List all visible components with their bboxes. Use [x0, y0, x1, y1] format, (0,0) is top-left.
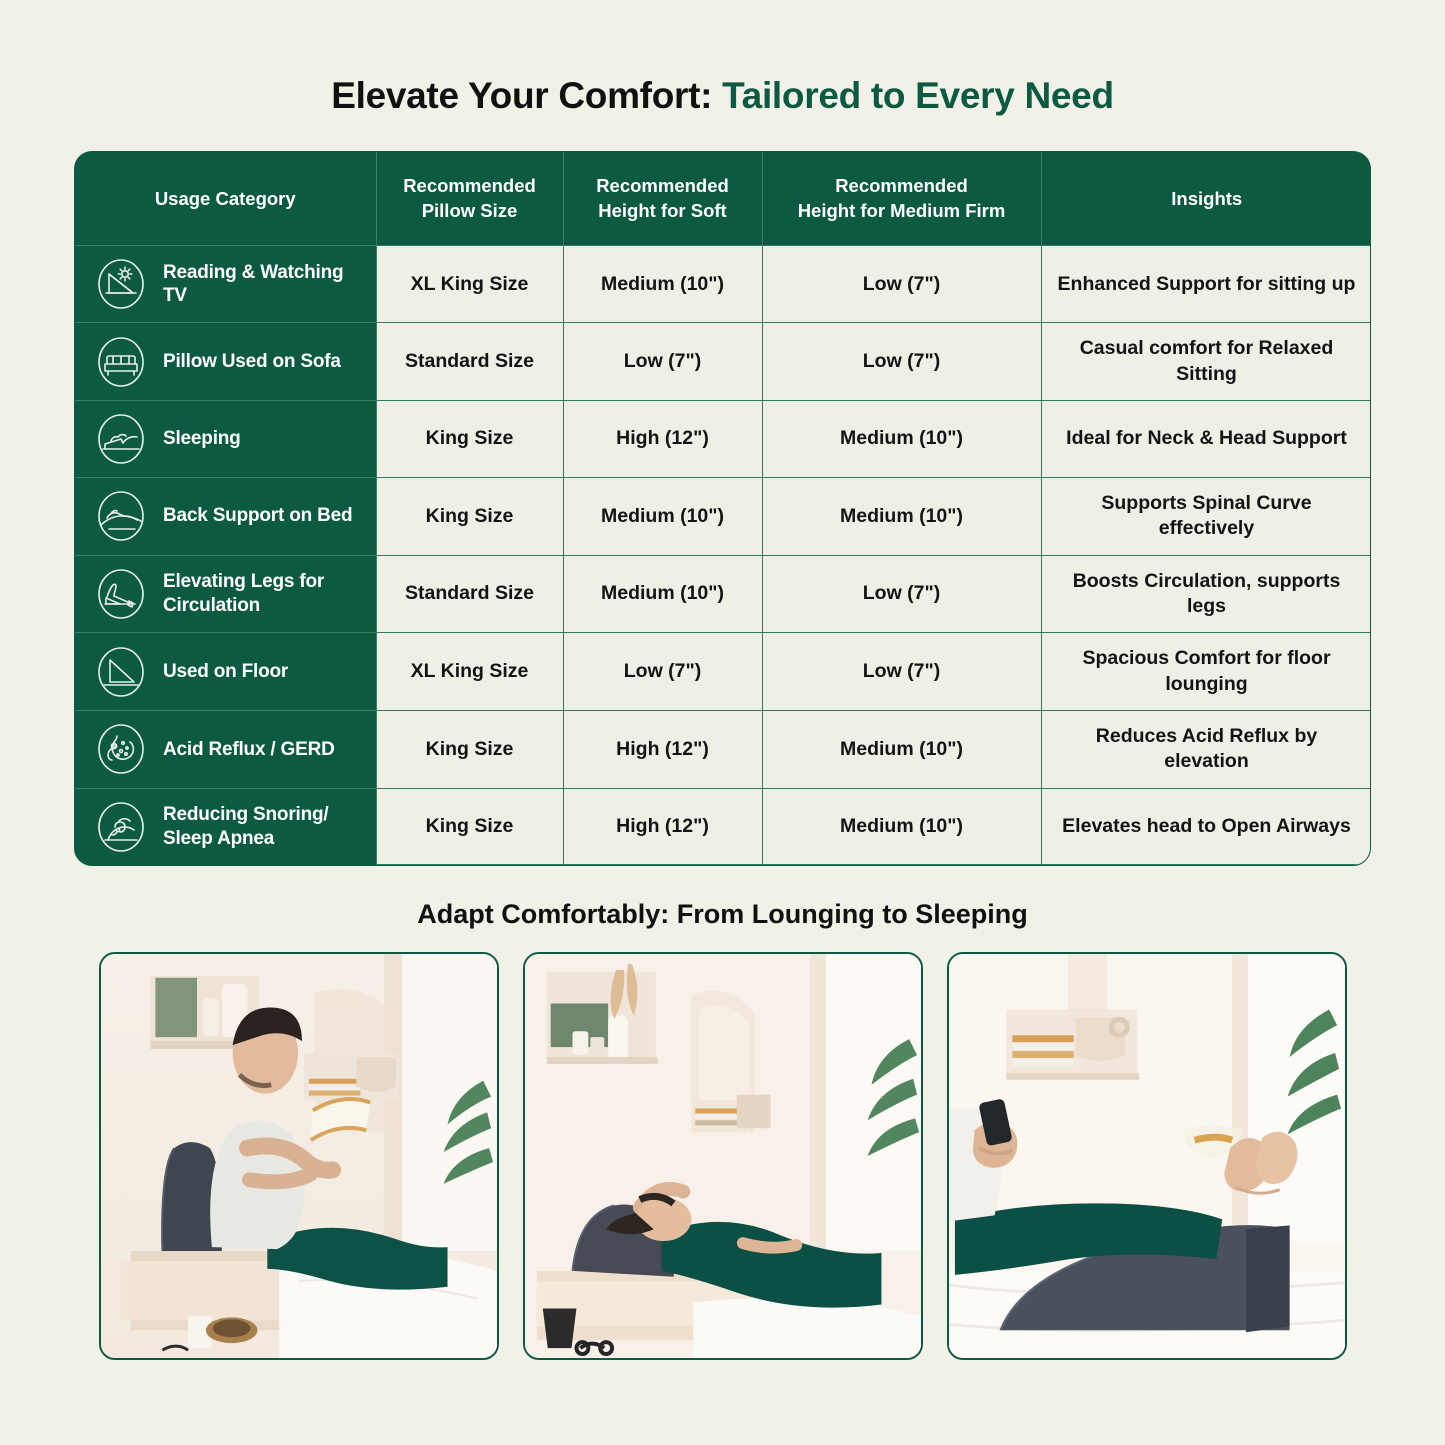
- height-medium-firm-cell: Medium (10"): [762, 400, 1041, 477]
- insight-cell: Enhanced Support for sitting up: [1041, 246, 1371, 323]
- table-row: Pillow Used on Sofa Standard Size Low (7…: [75, 323, 1371, 401]
- pillow-size-cell: Standard Size: [376, 555, 563, 633]
- insight-cell: Spacious Comfort for floor lounging: [1041, 633, 1371, 711]
- height-medium-firm-cell: Medium (10"): [762, 477, 1041, 555]
- usage-category-label: Reading & Watching TV: [163, 261, 364, 308]
- pillow-size-cell: XL King Size: [376, 246, 563, 323]
- pillow-size-cell: Standard Size: [376, 323, 563, 401]
- photo-woman-reclining-on-wedge-pillow: [523, 952, 923, 1360]
- sofa-icon: [93, 334, 149, 390]
- height-soft-cell: Low (7"): [563, 633, 762, 711]
- column-header-height-medium-firm: Recommended Height for Medium Firm: [762, 152, 1041, 245]
- height-soft-cell: Low (7"): [563, 323, 762, 401]
- pillow-size-cell: King Size: [376, 477, 563, 555]
- table-header-row: Usage Category Recommended Pillow Size R…: [75, 152, 1371, 245]
- height-soft-cell: Medium (10"): [563, 555, 762, 633]
- height-soft-cell: High (12"): [563, 788, 762, 865]
- height-soft-cell: High (12"): [563, 400, 762, 477]
- insight-cell: Reduces Acid Reflux by elevation: [1041, 710, 1371, 788]
- wedge-on-floor-icon: [93, 644, 149, 700]
- usage-category-cell: Used on Floor: [75, 633, 376, 711]
- usage-category-cell: Back Support on Bed: [75, 477, 376, 555]
- pillow-size-cell: King Size: [376, 788, 563, 865]
- height-soft-cell: Medium (10"): [563, 477, 762, 555]
- gallery-heading: Adapt Comfortably: From Lounging to Slee…: [0, 899, 1445, 930]
- table-row: Used on Floor XL King Size Low (7") Low …: [75, 633, 1371, 711]
- insight-cell: Elevates head to Open Airways: [1041, 788, 1371, 865]
- height-medium-firm-cell: Low (7"): [762, 246, 1041, 323]
- table-row: Back Support on Bed King Size Medium (10…: [75, 477, 1371, 555]
- sleeping-person-icon: [93, 411, 149, 467]
- insight-cell: Supports Spinal Curve effectively: [1041, 477, 1371, 555]
- height-soft-cell: Medium (10"): [563, 246, 762, 323]
- height-medium-firm-cell: Low (7"): [762, 633, 1041, 711]
- stomach-acid-reflux-icon: [93, 721, 149, 777]
- usage-category-cell: Acid Reflux / GERD: [75, 710, 376, 788]
- usage-category-label: Pillow Used on Sofa: [163, 350, 341, 374]
- table-row: Elevating Legs for Circulation Standard …: [75, 555, 1371, 633]
- height-medium-firm-cell: Medium (10"): [762, 710, 1041, 788]
- usage-category-label: Used on Floor: [163, 660, 288, 684]
- usage-category-label: Sleeping: [163, 427, 241, 451]
- table-row: Sleeping King Size High (12") Medium (10…: [75, 400, 1371, 477]
- photo-man-reading-with-wedge-pillow: [99, 952, 499, 1360]
- back-support-icon: [93, 488, 149, 544]
- usage-category-label: Acid Reflux / GERD: [163, 738, 335, 762]
- height-soft-cell: High (12"): [563, 710, 762, 788]
- usage-category-label: Back Support on Bed: [163, 504, 352, 528]
- photo-gallery: [0, 952, 1445, 1360]
- column-header-pillow-size: Recommended Pillow Size: [376, 152, 563, 245]
- usage-category-cell: Reading & Watching TV: [75, 246, 376, 323]
- height-medium-firm-cell: Low (7"): [762, 555, 1041, 633]
- usage-category-cell: Elevating Legs for Circulation: [75, 555, 376, 633]
- page-title: Elevate Your Comfort: Tailored to Every …: [0, 0, 1445, 118]
- column-header-insights: Insights: [1041, 152, 1371, 245]
- usage-category-cell: Pillow Used on Sofa: [75, 323, 376, 401]
- table-row: Reducing Snoring/ Sleep Apnea King Size …: [75, 788, 1371, 865]
- pillow-size-cell: King Size: [376, 710, 563, 788]
- usage-category-label: Elevating Legs for Circulation: [163, 570, 364, 617]
- insight-cell: Ideal for Neck & Head Support: [1041, 400, 1371, 477]
- usage-category-cell: Sleeping: [75, 400, 376, 477]
- pillow-size-cell: King Size: [376, 400, 563, 477]
- comfort-comparison-table: Usage Category Recommended Pillow Size R…: [74, 151, 1371, 866]
- infographic-page: Elevate Your Comfort: Tailored to Every …: [0, 0, 1445, 1445]
- page-title-lead: Elevate Your Comfort:: [331, 75, 722, 116]
- insight-cell: Casual comfort for Relaxed Sitting: [1041, 323, 1371, 401]
- column-header-usage-category: Usage Category: [75, 152, 376, 245]
- insight-cell: Boosts Circulation, supports legs: [1041, 555, 1371, 633]
- height-medium-firm-cell: Low (7"): [762, 323, 1041, 401]
- height-medium-firm-cell: Medium (10"): [762, 788, 1041, 865]
- photo-legs-elevated-on-wedge-pillow: [947, 952, 1347, 1360]
- column-header-height-soft: Recommended Height for Soft: [563, 152, 762, 245]
- snoring-head-icon: [93, 799, 149, 855]
- table-row: Acid Reflux / GERD King Size High (12") …: [75, 710, 1371, 788]
- usage-category-label: Reducing Snoring/ Sleep Apnea: [163, 803, 364, 850]
- usage-category-cell: Reducing Snoring/ Sleep Apnea: [75, 788, 376, 865]
- pillow-size-cell: XL King Size: [376, 633, 563, 711]
- legs-elevated-icon: [93, 566, 149, 622]
- table-body: Reading & Watching TV XL King Size Mediu…: [75, 246, 1371, 865]
- page-title-accent: Tailored to Every Need: [722, 75, 1114, 116]
- wedge-pillow-reading-icon: [93, 256, 149, 312]
- table-row: Reading & Watching TV XL King Size Mediu…: [75, 246, 1371, 323]
